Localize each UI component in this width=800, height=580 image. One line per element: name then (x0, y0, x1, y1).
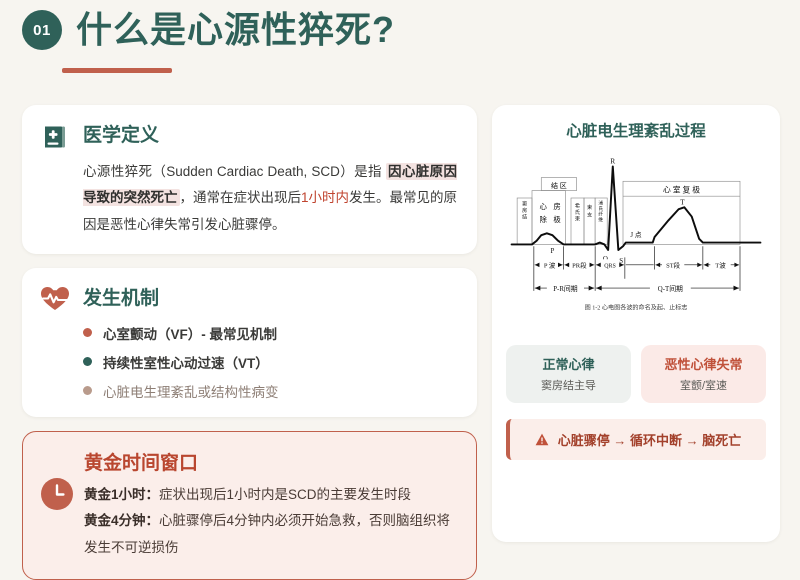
normal-rhythm-title: 正常心律 (510, 354, 627, 373)
malignant-rhythm-title: 恶性心律失常 (645, 354, 762, 373)
mechanism-bullet-list: 心室颤动（VF）- 最常见机制 持续性室性心动过速（VT） 心脏电生理紊乱或结构… (83, 323, 457, 401)
rhythm-comparison: 正常心律 窦房结主导 恶性心律失常 室颤/室速 (506, 345, 766, 403)
svg-text:氏: 氏 (575, 208, 580, 216)
ecg-segment-st: ST段 (666, 261, 681, 270)
golden-card-rows: 黄金1小时：症状出现后1小时内是SCD的主要发生时段 黄金4分钟：心脏骤停后4分… (84, 482, 456, 561)
ecg-interval-qt: Q-T间期 (658, 285, 683, 293)
ecg-panel: 心脏电生理紊乱过程 (492, 105, 780, 542)
warning-triangle-icon (535, 433, 549, 446)
definition-part-0: 心源性猝死（Sudden Cardiac Death, SCD）是指 (83, 164, 386, 179)
golden-row: 黄金4分钟：心脏骤停后4分钟内必须开始急救，否则脑组织将发生不可逆损伤 (84, 508, 456, 561)
medical-book-icon (40, 122, 70, 152)
svg-text:极: 极 (553, 214, 561, 224)
ecg-segment-t-wave: T波 (715, 261, 726, 270)
bullet-dot (83, 357, 92, 366)
definition-card-body: 心源性猝死（Sudden Cardiac Death, SCD）是指 因心脏原因… (83, 159, 457, 238)
golden-time-window-card: 黄金时间窗口 黄金1小时：症状出现后1小时内是SCD的主要发生时段 黄金4分钟：… (22, 431, 477, 580)
clock-icon (41, 478, 73, 515)
definition-card-header: 医学定义 (40, 121, 457, 152)
definition-card: 医学定义 心源性猝死（Sudden Cardiac Death, SCD）是指 … (22, 105, 477, 254)
ecg-box-label-atrial: 心 (539, 202, 547, 211)
svg-text:束: 束 (575, 215, 580, 222)
ecg-box-label-his: 希 (575, 201, 580, 209)
ecg-point-P: P (550, 247, 554, 255)
golden-card-title: 黄金时间窗口 (84, 448, 456, 475)
section-number-text: 01 (33, 22, 51, 39)
list-item: 心室颤动（VF）- 最常见机制 (83, 323, 457, 343)
bullet-label: 持续性室性心动过速（VT） (103, 352, 269, 372)
ecg-panel-title: 心脏电生理紊乱过程 (506, 119, 766, 141)
ecg-segment-qrs: QRS (604, 264, 616, 270)
definition-part-2: ，通常在症状出现后 (180, 190, 302, 205)
ecg-interval-pr: P-R间期 (553, 285, 578, 293)
ecg-point-T: T (680, 198, 685, 207)
golden-row-label: 黄金1小时： (84, 487, 159, 502)
definition-part-3-red: 1小时内 (301, 190, 349, 205)
normal-rhythm-box: 正常心律 窦房结主导 (506, 345, 631, 403)
ecg-box-label-repolarization: 心 室 复 极 (663, 184, 700, 194)
ecg-segment-p-wave: P 波 (544, 261, 556, 270)
right-column: 心脏电生理紊乱过程 (492, 105, 780, 542)
ecg-point-J: J 点 (630, 231, 641, 239)
golden-row: 黄金1小时：症状出现后1小时内是SCD的主要发生时段 (84, 482, 456, 508)
ecg-caption: 图 1-2 心电图各波的命名及起、止标志 (585, 303, 688, 311)
malignant-rhythm-subtitle: 室颤/室速 (645, 377, 762, 393)
slide-page: 01 什么是心源性猝死? 医学定义 心源性猝死（S (0, 0, 800, 580)
list-item: 持续性室性心动过速（VT） (83, 352, 457, 372)
definition-card-title: 医学定义 (83, 121, 159, 151)
mechanism-card-title: 发生机制 (83, 284, 159, 314)
warning-text: 心脏骤停 → 循环中断 → 脑死亡 (558, 430, 741, 449)
mechanism-card-header: 发生机制 (40, 284, 457, 315)
page-title: 什么是心源性猝死? (76, 12, 395, 48)
bullet-label: 心脏电生理紊乱或结构性病变 (103, 381, 279, 401)
bullet-dot (83, 386, 92, 395)
ecg-box-label-node: 结 区 (551, 181, 567, 190)
normal-rhythm-subtitle: 窦房结主导 (510, 377, 627, 393)
heart-pulse-icon (40, 285, 70, 315)
page-header: 01 什么是心源性猝死? (22, 10, 395, 50)
svg-text:支: 支 (587, 211, 592, 219)
ecg-diagram: 窦 房 结 心 除 房 极 结 区 希 氏 束 束 支 浦 (506, 147, 766, 327)
title-underline (62, 68, 172, 73)
warning-banner: 心脏骤停 → 循环中断 → 脑死亡 (506, 419, 766, 460)
section-number-badge: 01 (22, 10, 62, 50)
ecg-box-label-bundle: 束 (587, 204, 592, 211)
mechanism-card: 发生机制 心室颤动（VF）- 最常见机制 持续性室性心动过速（VT） 心脏电生理… (22, 268, 477, 417)
golden-row-text: 症状出现后1小时内是SCD的主要发生时段 (159, 487, 411, 502)
bullet-dot (83, 328, 92, 337)
ecg-segment-pr: PR段 (572, 261, 587, 270)
malignant-rhythm-box: 恶性心律失常 室颤/室速 (641, 345, 766, 403)
left-column: 医学定义 心源性猝死（Sudden Cardiac Death, SCD）是指 … (22, 105, 477, 580)
golden-row-label: 黄金4分钟： (84, 513, 159, 528)
ecg-point-R: R (610, 157, 615, 166)
svg-text:除: 除 (539, 214, 547, 224)
svg-text:房: 房 (553, 201, 560, 211)
bullet-label: 心室颤动（VF）- 最常见机制 (103, 323, 277, 343)
list-item: 心脏电生理紊乱或结构性病变 (83, 381, 457, 401)
